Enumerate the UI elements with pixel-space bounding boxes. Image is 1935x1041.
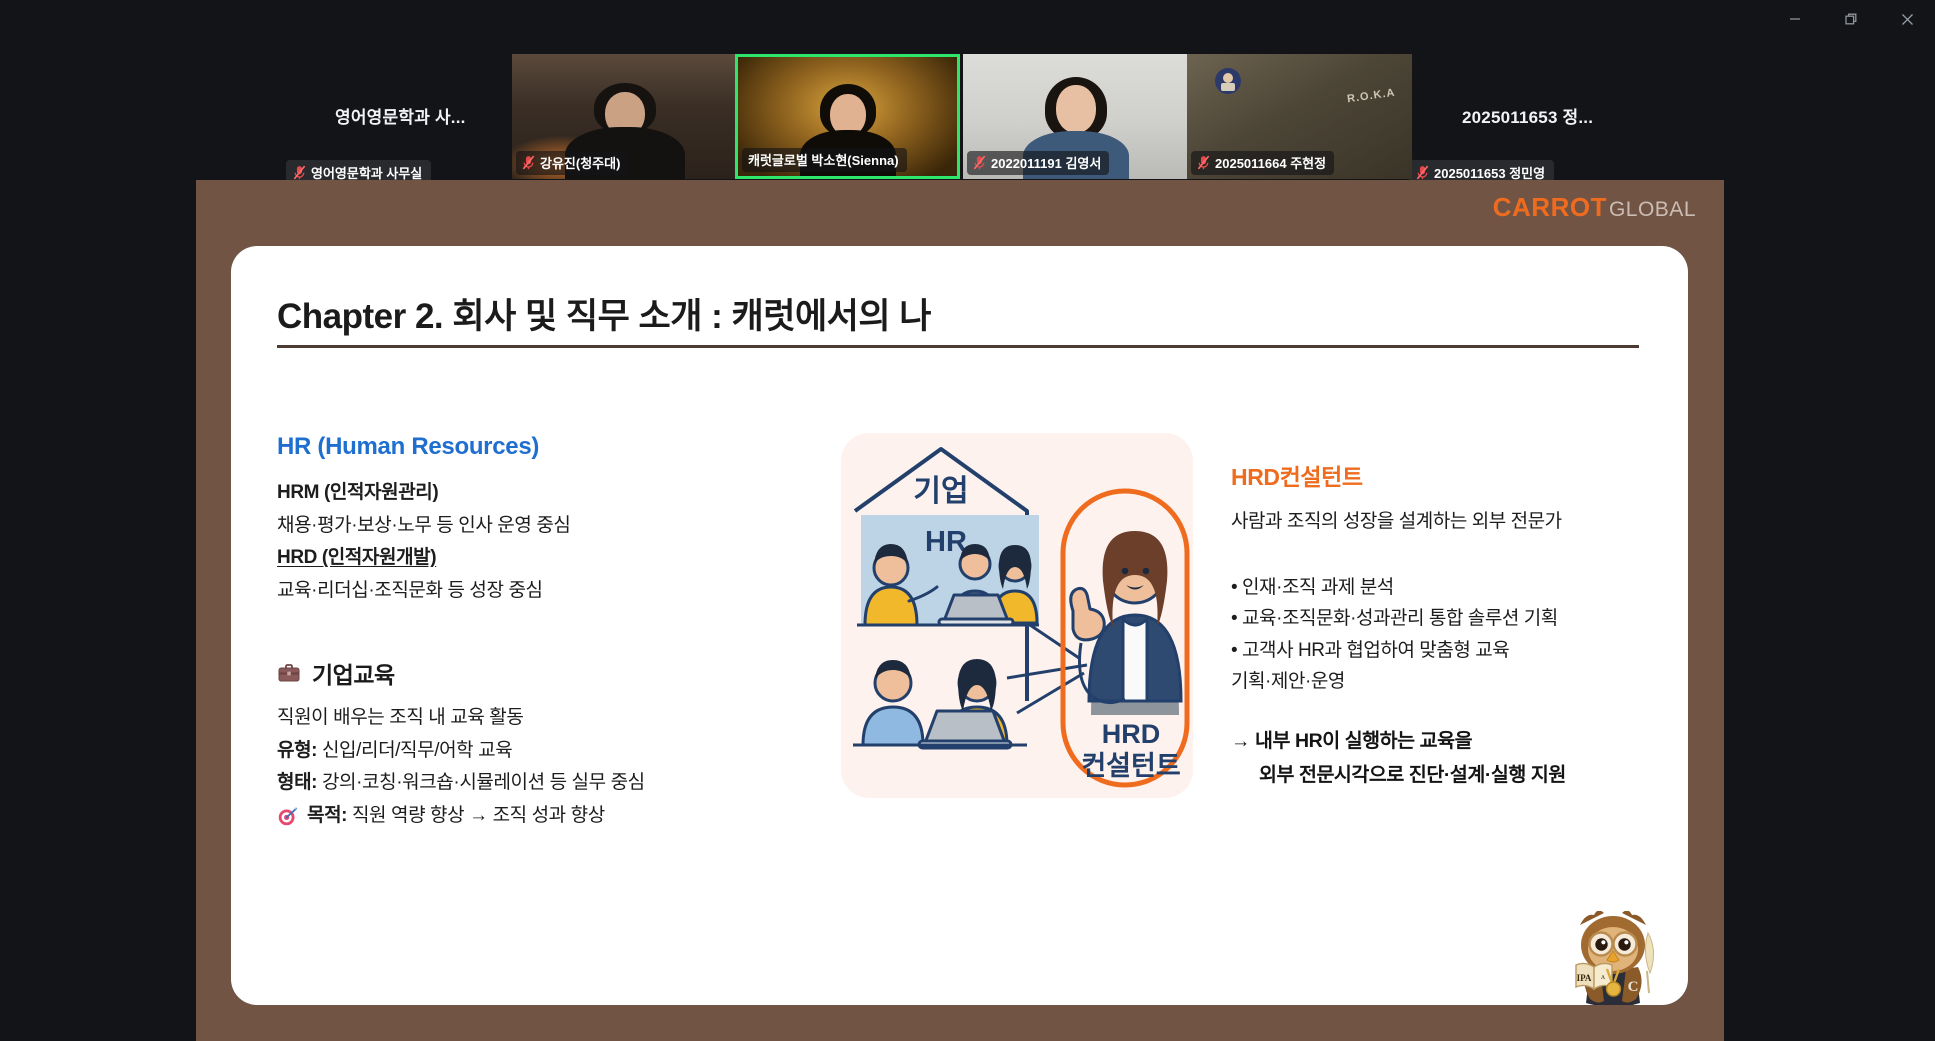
muted-microphone-icon: [1197, 155, 1210, 170]
tile-name-badge: 2022011191 김영서: [967, 151, 1109, 175]
participant-label-left: 영어영문학과 사...: [335, 103, 466, 128]
minimize-button[interactable]: [1767, 0, 1823, 38]
training-desc: 직원이 배우는 조직 내 교육 활동: [277, 702, 747, 735]
owl-book-text: IPA: [1577, 973, 1592, 983]
logo-secondary: GLOBAL: [1609, 198, 1696, 222]
hrd-tail: 기획·제안·운영: [1231, 666, 1661, 698]
illustration-consultant-label-1: HRD: [1102, 719, 1161, 749]
left-column: HR (Human Resources) HRM (인적자원관리) 채용·평가·…: [277, 433, 697, 608]
slide-title: Chapter 2. 회사 및 직무 소개 : 캐럿에서의 나: [277, 288, 931, 339]
spacer: [1231, 538, 1661, 572]
briefcase-icon: [277, 661, 301, 685]
training-format-label: 형태:: [277, 772, 317, 793]
muted-microphone-icon: [973, 155, 986, 170]
tile-name-label: 강유진(청주대): [540, 153, 620, 172]
training-type-label: 유형:: [277, 740, 317, 761]
zoom-meeting-window: 영어영문학과 사... 2025011653 정... 영어영문학과 사무실 2…: [0, 0, 1935, 1041]
hrd-conclusion-2: 외부 전문시각으로 진단·설계·실행 지원: [1231, 758, 1661, 792]
training-type-line: 유형: 신입/리더/직무/어학 교육: [277, 735, 747, 768]
hrm-desc: 채용·평가·보상·노무 등 인사 운영 중심: [277, 510, 697, 543]
hrd-desc: 교육·리더십·조직문화 등 성장 중심: [277, 575, 697, 608]
hrd-bullet-2: • 교육·조직문화·성과관리 통합 솔루션 기획: [1231, 603, 1661, 635]
restore-icon: [1844, 12, 1858, 26]
window-controls: [1767, 0, 1935, 38]
hrd-bullet-3: • 고객사 HR과 협업하여 맞춤형 교육: [1231, 635, 1661, 667]
hrd-title: HRD (인적자원개발): [277, 542, 697, 575]
hrd-consultant-subtitle: 사람과 조직의 성장을 설계하는 외부 전문가: [1231, 506, 1661, 538]
owl-mascot: IPA ʌ C: [1560, 911, 1666, 1005]
video-tile-kang-yujin[interactable]: 강유진(청주대): [512, 54, 737, 179]
training-type-value: 신입/리더/직무/어학 교육: [317, 740, 512, 761]
training-purpose-line: 목적: 직원 역량 향상 → 조직 성과 향상: [277, 800, 747, 833]
owl-badge-letter: C: [1628, 979, 1639, 995]
close-button[interactable]: [1879, 0, 1935, 38]
jacket-patch-icon: [1211, 64, 1245, 98]
owl-book-symbols: ʌ: [1601, 972, 1605, 981]
logo-primary: CARROT: [1493, 192, 1607, 223]
minimize-icon: [1788, 12, 1802, 26]
video-tile-joo-hyunjung[interactable]: R.O.K.A 2025011664 주현정: [1187, 54, 1412, 179]
corporate-training-title: 기업교육: [312, 656, 395, 690]
illustration-consultant-label-2: 컨설턴트: [1081, 751, 1180, 781]
hrm-title: HRM (인적자원관리): [277, 477, 697, 510]
restore-button[interactable]: [1823, 0, 1879, 38]
carrot-global-logo: CARROT GLOBAL: [1493, 192, 1696, 223]
title-divider: [277, 345, 1639, 348]
owl-mascot-icon: IPA ʌ C: [1560, 911, 1666, 1005]
target-icon: [277, 806, 298, 827]
tile-name-badge: 2025011664 주현정: [1191, 151, 1334, 175]
training-format-value: 강의·코칭·워크숍·시뮬레이션 등 실무 중심: [317, 772, 645, 793]
training-purpose-label: 목적:: [307, 805, 347, 826]
tile-name-badge: 강유진(청주대): [516, 151, 628, 175]
video-tile-park-sohyun[interactable]: 캐럿글로벌 박소현(Sienna): [735, 54, 960, 179]
illustration-graphic: 기업 HR: [841, 433, 1193, 798]
hr-heading: HR (Human Resources): [277, 433, 697, 461]
hr-hrd-illustration: 기업 HR: [841, 433, 1193, 798]
shared-screen-slide: CARROT GLOBAL Chapter 2. 회사 및 직무 소개 : 캐럿…: [196, 180, 1724, 1041]
close-icon: [1900, 12, 1915, 27]
participant-filmstrip: 영어영문학과 사... 2025011653 정... 영어영문학과 사무실 2…: [0, 0, 1935, 186]
illustration-inner-label: HR: [925, 526, 967, 558]
participant-label-right: 2025011653 정...: [1462, 103, 1593, 128]
muted-microphone-icon: [293, 165, 306, 180]
muted-microphone-icon: [522, 155, 535, 170]
slide-card: Chapter 2. 회사 및 직무 소개 : 캐럿에서의 나 HR (Huma…: [231, 246, 1688, 1005]
video-tile-kim-youngseo[interactable]: 2022011191 김영서: [963, 54, 1188, 179]
training-format-line: 형태: 강의·코칭·워크숍·시뮬레이션 등 실무 중심: [277, 767, 747, 800]
hrd-consultant-heading: HRD컨설턴트: [1231, 458, 1661, 492]
spacer: [1231, 698, 1661, 724]
hrd-bullet-1: • 인재·조직 과제 분석: [1231, 572, 1661, 604]
illustration-house-label: 기업: [913, 475, 968, 508]
tile-name-label: 2025011664 주현정: [1215, 153, 1326, 172]
tile-name-badge: 캐럿글로벌 박소현(Sienna): [742, 148, 907, 172]
muted-microphone-icon: [1416, 165, 1429, 180]
training-purpose-value: 직원 역량 향상 → 조직 성과 향상: [347, 805, 605, 826]
tile-name-label: 2022011191 김영서: [991, 153, 1101, 172]
right-column: HRD컨설턴트 사람과 조직의 성장을 설계하는 외부 전문가 • 인재·조직 …: [1231, 458, 1661, 792]
corporate-training-block: 기업교육 직원이 배우는 조직 내 교육 활동 유형: 신입/리더/직무/어학 …: [277, 656, 747, 833]
hrd-conclusion-1: → 내부 HR이 실행하는 교육을: [1231, 724, 1661, 758]
tile-name-label: 캐럿글로벌 박소현(Sienna): [748, 150, 899, 169]
corporate-training-header: 기업교육: [277, 656, 747, 690]
